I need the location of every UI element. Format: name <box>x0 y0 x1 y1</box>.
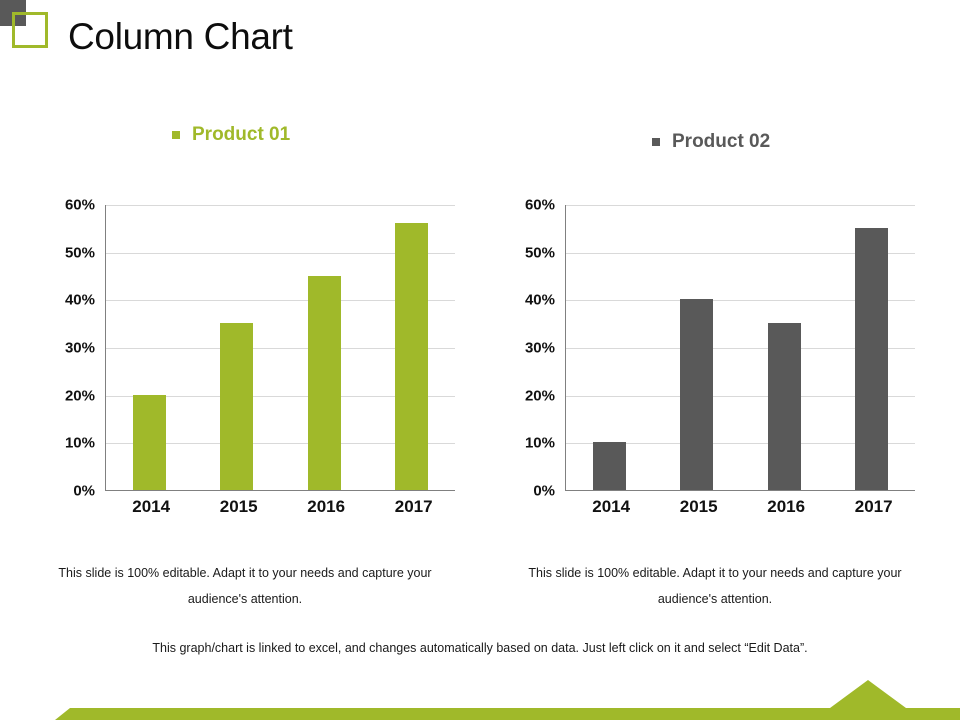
bullet-square-icon <box>652 138 660 146</box>
y-axis-tick-label: 10% <box>525 435 555 452</box>
plot-product-01: 60%50%40%30%20%10%0% 2014201520162017 <box>10 205 470 515</box>
y-axis-tick-label: 50% <box>65 244 95 261</box>
chart-panel-product-02: Product 02 60%50%40%30%20%10%0% 20142015… <box>470 120 930 620</box>
y-axis-tick-label: 40% <box>525 292 555 309</box>
bar-group-product-02 <box>566 205 915 490</box>
y-axis-tick-label: 0% <box>73 483 95 500</box>
y-axis-tick-label: 20% <box>65 387 95 404</box>
legend-label: Product 01 <box>192 124 290 146</box>
chart-bar[interactable] <box>308 276 341 491</box>
x-axis-product-02: 2014201520162017 <box>565 497 915 517</box>
y-axis-tick-label: 40% <box>65 292 95 309</box>
page-title: Column Chart <box>68 16 293 58</box>
y-axis-tick-label: 30% <box>65 340 95 357</box>
x-axis-tick-label: 2014 <box>592 497 625 517</box>
bottom-decoration-band <box>0 670 960 720</box>
y-axis-product-01: 60%50%40%30%20%10%0% <box>40 205 95 491</box>
corner-outline-square-icon <box>12 12 48 48</box>
chart-caption: This slide is 100% editable. Adapt it to… <box>55 560 435 612</box>
y-axis-tick-label: 60% <box>525 197 555 214</box>
plot-area-product-02 <box>565 205 915 491</box>
footer-note: This graph/chart is linked to excel, and… <box>0 641 960 655</box>
bottom-band-shape-icon <box>0 670 960 720</box>
x-axis-tick-label: 2015 <box>220 497 253 517</box>
chart-panel-product-01: Product 01 60%50%40%30%20%10%0% 20142015… <box>10 120 470 620</box>
x-axis-tick-label: 2017 <box>395 497 428 517</box>
chart-legend-product-01: Product 01 <box>172 120 470 150</box>
x-axis-tick-label: 2014 <box>132 497 165 517</box>
x-axis-tick-label: 2016 <box>767 497 800 517</box>
chart-bar[interactable] <box>133 395 166 490</box>
y-axis-tick-label: 0% <box>533 483 555 500</box>
legend-label: Product 02 <box>672 131 770 153</box>
y-axis-tick-label: 10% <box>65 435 95 452</box>
chart-legend-product-02: Product 02 <box>652 127 930 157</box>
chart-bar[interactable] <box>395 223 428 490</box>
plot-product-02: 60%50%40%30%20%10%0% 2014201520162017 <box>470 205 930 515</box>
y-axis-tick-label: 30% <box>525 340 555 357</box>
bar-group-product-01 <box>106 205 455 490</box>
chart-bar[interactable] <box>855 228 888 490</box>
bullet-square-icon <box>172 131 180 139</box>
y-axis-tick-label: 20% <box>525 387 555 404</box>
x-axis-tick-label: 2016 <box>307 497 340 517</box>
x-axis-product-01: 2014201520162017 <box>105 497 455 517</box>
y-axis-tick-label: 50% <box>525 244 555 261</box>
y-axis-product-02: 60%50%40%30%20%10%0% <box>500 205 555 491</box>
chart-bar[interactable] <box>680 299 713 490</box>
x-axis-tick-label: 2015 <box>680 497 713 517</box>
plot-area-product-01 <box>105 205 455 491</box>
chart-bar[interactable] <box>593 442 626 490</box>
x-axis-tick-label: 2017 <box>855 497 888 517</box>
y-axis-tick-label: 60% <box>65 197 95 214</box>
chart-bar[interactable] <box>768 323 801 490</box>
chart-bar[interactable] <box>220 323 253 490</box>
chart-caption: This slide is 100% editable. Adapt it to… <box>525 560 905 612</box>
